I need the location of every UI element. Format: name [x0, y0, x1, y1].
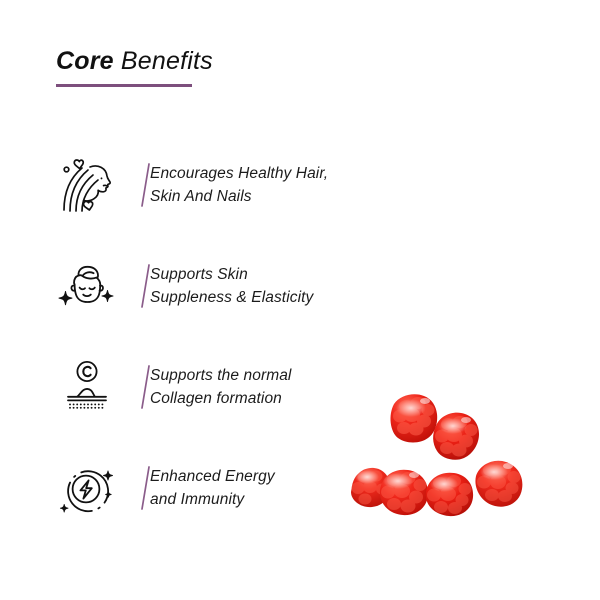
- benefit-row: Supports the normal Collagen formation: [0, 336, 360, 437]
- page-title-strong: Core: [56, 47, 114, 75]
- gummy: [391, 394, 438, 442]
- core-benefits-panel: Core Benefits: [0, 0, 600, 600]
- page-title-rest: Benefits: [114, 47, 213, 75]
- vitamin-c-collagen-icon: [56, 356, 118, 418]
- benefit-text-line1: Encourages Healthy Hair,: [150, 165, 328, 182]
- benefit-row: Enhanced Energy and Immunity: [0, 437, 360, 538]
- page-title-block: Core Benefits: [56, 46, 476, 87]
- title-underline-rule: [56, 84, 192, 87]
- red-raspberry-gummies-image: [336, 382, 584, 530]
- benefit-text-line1: Enhanced Energy: [150, 468, 275, 485]
- gummy: [433, 413, 479, 460]
- page-title: Core Benefits: [56, 46, 476, 76]
- benefit-text-line1: Supports the normal: [150, 367, 291, 384]
- benefits-list: Encourages Healthy Hair, Skin And Nails: [0, 134, 360, 538]
- energy-bolt-icon: [56, 457, 118, 519]
- benefit-row: Supports Skin Suppleness & Elasticity: [0, 235, 360, 336]
- benefit-text-line2: Collagen formation: [150, 390, 282, 407]
- benefit-text: Enhanced Energy and Immunity: [150, 465, 360, 511]
- hair-beauty-icon: [56, 154, 118, 216]
- benefit-text-line2: Suppleness & Elasticity: [150, 289, 313, 306]
- gummy: [475, 461, 522, 507]
- benefit-text-line2: Skin And Nails: [150, 188, 252, 205]
- benefit-row: Encourages Healthy Hair, Skin And Nails: [0, 134, 360, 235]
- benefit-text: Encourages Healthy Hair, Skin And Nails: [150, 162, 360, 208]
- gummy: [380, 470, 428, 515]
- benefit-text-line2: and Immunity: [150, 491, 244, 508]
- gummy: [426, 473, 473, 516]
- glowing-face-icon: [56, 255, 118, 317]
- benefit-text-line1: Supports Skin: [150, 266, 248, 283]
- benefit-text: Supports the normal Collagen formation: [150, 364, 360, 410]
- benefit-text: Supports Skin Suppleness & Elasticity: [150, 263, 360, 309]
